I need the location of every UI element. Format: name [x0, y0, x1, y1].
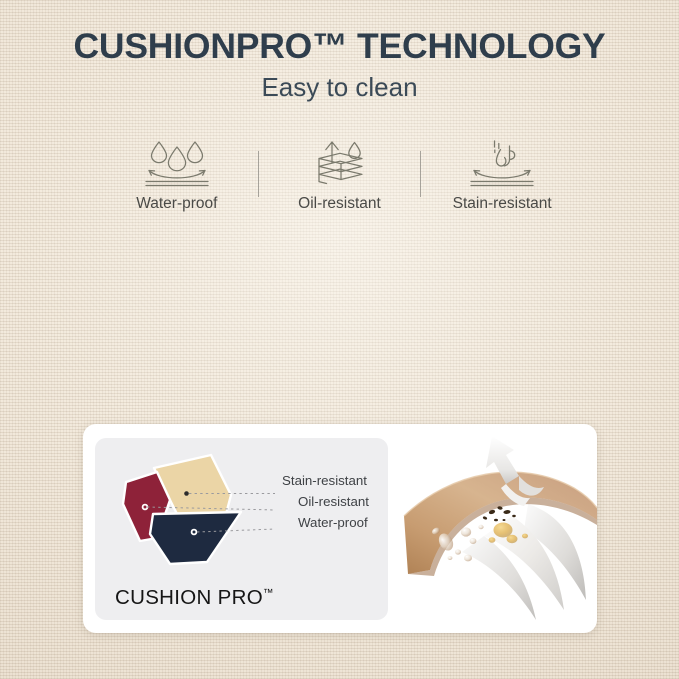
- brandmark-cushion-pro: CUSHION PRO™: [115, 588, 273, 609]
- feature-label-water-proof: Water-proof: [136, 196, 217, 212]
- curved-cushion-illustration: [388, 424, 597, 633]
- callout-label-water-proof: Water-proof: [298, 516, 368, 529]
- feature-list: Water-proof: [96, 136, 583, 228]
- water-droplets-repelling-surface-icon: [139, 136, 215, 188]
- feature-divider-1: [258, 151, 259, 197]
- cushion-pro-card: CUSHION PRO™ Stain-resistant Oil-resista…: [83, 424, 597, 633]
- navy-polygon: [150, 512, 241, 564]
- splash-particles-repelling-surface-icon: [464, 136, 540, 188]
- feature-item-stain-resistant: Stain-resistant: [421, 136, 583, 228]
- feature-label-stain-resistant: Stain-resistant: [453, 196, 552, 212]
- callout-label-stain-resistant: Stain-resistant: [282, 474, 367, 487]
- feature-divider-2: [420, 151, 421, 197]
- feature-item-water-proof: Water-proof: [96, 136, 258, 228]
- feature-item-oil-resistant: Oil-resistant: [259, 136, 421, 228]
- feature-label-oil-resistant: Oil-resistant: [298, 196, 381, 212]
- brandmark-tm: ™: [263, 587, 274, 599]
- brandmark-text: CUSHION PRO: [115, 586, 263, 609]
- layered-stack-droplet-arrow-icon: [302, 136, 378, 188]
- callout-label-oil-resistant: Oil-resistant: [298, 495, 369, 508]
- product-photo: [388, 424, 597, 633]
- header-block: CUSHIONPRO™ TECHNOLOGY Easy to clean: [0, 28, 679, 102]
- page-title: CUSHIONPRO™ TECHNOLOGY: [0, 28, 679, 65]
- product-feature-graphic: CUSHIONPRO™ TECHNOLOGY Easy to clean: [0, 0, 679, 679]
- page-subtitle: Easy to clean: [0, 73, 679, 102]
